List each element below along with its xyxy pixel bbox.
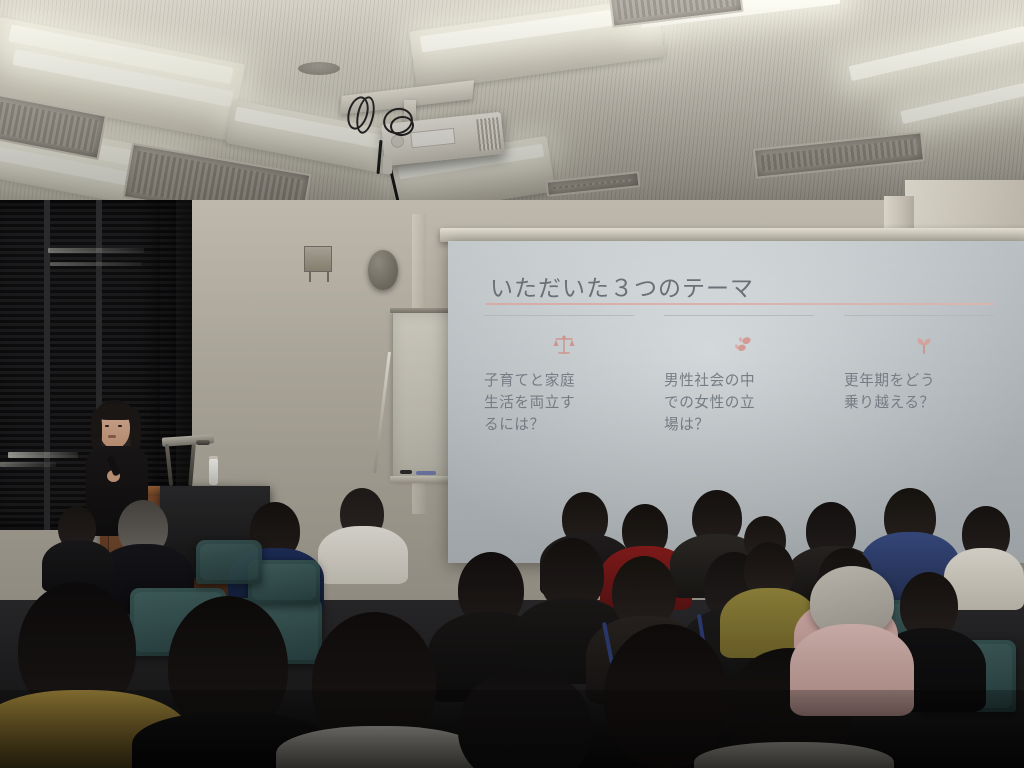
audience-shoulders bbox=[276, 726, 484, 768]
screen-roller-case bbox=[440, 228, 1024, 242]
presenter-eye bbox=[105, 425, 109, 427]
presenter-eye bbox=[118, 425, 122, 427]
column-text: 子育てと家庭 生活を両立す るには？ bbox=[484, 370, 644, 437]
column-text-line: 乗り越える？ bbox=[844, 392, 1004, 414]
column-text-line: 場は？ bbox=[664, 414, 824, 436]
column-text-line: 男性社会の中 bbox=[664, 370, 824, 392]
blind-light-gap bbox=[0, 462, 56, 467]
balance-scale-icon bbox=[484, 330, 644, 360]
slide-column: 男性社会の中 での女性の立 場は？ bbox=[664, 315, 824, 437]
sprout-icon bbox=[844, 330, 1004, 360]
audience-shoulders bbox=[318, 526, 408, 584]
column-text-line: 子育てと家庭 bbox=[484, 370, 644, 392]
window-blinds[interactable] bbox=[160, 200, 192, 500]
chair-back bbox=[196, 540, 262, 584]
column-text-line: 生活を両立す bbox=[484, 392, 644, 414]
wall-control-panel[interactable] bbox=[304, 246, 332, 272]
column-divider bbox=[484, 315, 634, 316]
column-text: 男性社会の中 での女性の立 場は？ bbox=[664, 370, 824, 437]
column-text: 更年期をどう 乗り越える？ bbox=[844, 370, 1004, 414]
slide-column: 子育てと家庭 生活を両立す るには？ bbox=[484, 315, 644, 437]
audience-shoulders bbox=[790, 624, 914, 716]
wall-speaker bbox=[368, 250, 398, 290]
column-text-line: での女性の立 bbox=[664, 392, 824, 414]
seminar-room-photo: いただいた３つのテーマ bbox=[0, 0, 1024, 768]
wall-panel-leg bbox=[327, 272, 329, 282]
column-text-line: るには？ bbox=[484, 414, 644, 436]
presentation-slide: いただいた３つのテーマ bbox=[468, 253, 1022, 563]
blind-light-gap bbox=[8, 452, 78, 458]
slide-title-underline bbox=[486, 303, 994, 305]
column-divider bbox=[844, 315, 994, 316]
blind-light-gap bbox=[50, 262, 142, 266]
column-divider bbox=[664, 315, 814, 316]
av-stand-arm bbox=[196, 440, 210, 445]
whiteboard-marker[interactable] bbox=[400, 470, 412, 474]
slide-columns: 子育てと家庭 生活を両立す るには？ bbox=[484, 315, 1004, 437]
column-text-line: 更年期をどう bbox=[844, 370, 1004, 392]
whiteboard-marker[interactable] bbox=[416, 471, 436, 475]
slide-title: いただいた３つのテーマ bbox=[490, 269, 754, 303]
footprints-icon bbox=[664, 330, 824, 360]
wall-panel-leg bbox=[309, 272, 311, 282]
blind-light-gap bbox=[48, 248, 144, 253]
chair-seatback bbox=[200, 544, 258, 580]
slide-column: 更年期をどう 乗り越える？ bbox=[844, 315, 1004, 437]
audience-head bbox=[604, 624, 728, 768]
presenter-mouth bbox=[108, 435, 116, 438]
water-bottle bbox=[209, 459, 218, 485]
